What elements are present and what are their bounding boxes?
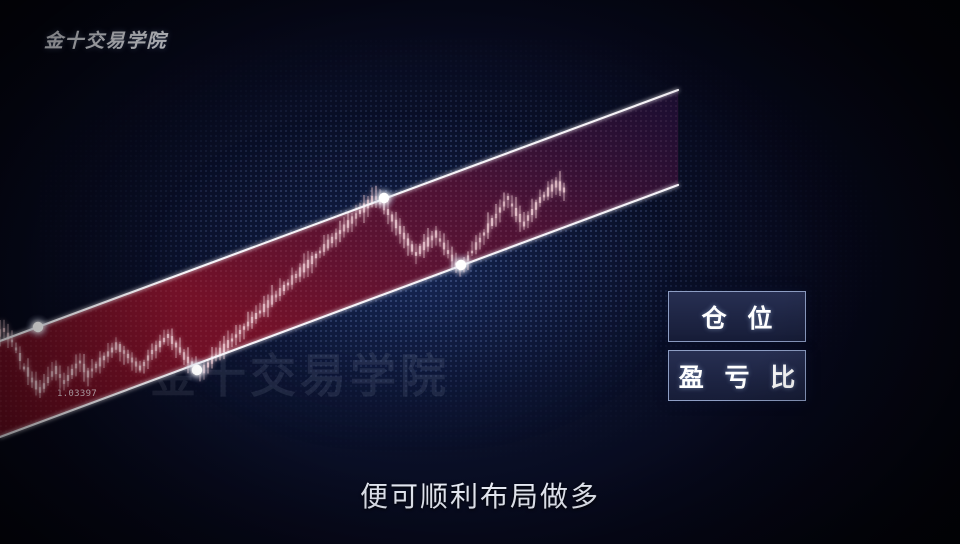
ascending-channel-band	[0, 90, 678, 437]
price-chart	[0, 0, 960, 544]
brand-logo: 金十交易学院	[44, 26, 167, 53]
risk-reward-label-box[interactable]: 盈 亏 比	[668, 350, 806, 401]
position-label-text: 仓 位	[696, 299, 779, 335]
position-label-box[interactable]: 仓 位	[668, 291, 806, 342]
touch-point-marker[interactable]	[379, 193, 389, 203]
video-frame: 金十交易学院	[0, 0, 960, 544]
risk-reward-label-text: 盈 亏 比	[673, 358, 801, 394]
subtitle-caption: 便可顺利布局做多	[0, 475, 960, 515]
price-label: 1.03397	[57, 389, 97, 399]
touch-point-marker[interactable]	[192, 365, 202, 375]
touch-point-marker[interactable]	[33, 322, 43, 332]
touch-point-marker[interactable]	[456, 260, 466, 270]
